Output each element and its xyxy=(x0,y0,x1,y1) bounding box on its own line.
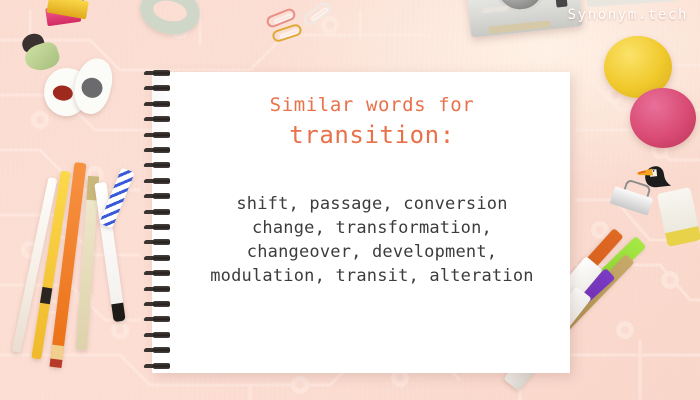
spiral-coil xyxy=(144,363,174,369)
spiral-coil xyxy=(144,178,174,184)
spiral-coil xyxy=(144,70,174,76)
synonym-line: change, transformation, xyxy=(182,216,562,240)
synonym-line: changeover, development, xyxy=(182,240,562,264)
synonym-list: shift, passage, conversion change, trans… xyxy=(182,192,562,288)
macaron-pink-icon xyxy=(630,88,696,148)
spiral-coil xyxy=(144,85,174,91)
synonym-line: shift, passage, conversion xyxy=(182,192,562,216)
spiral-coil xyxy=(144,101,174,107)
spiral-coil xyxy=(144,316,174,322)
spiral-coil xyxy=(144,209,174,215)
spiral-coil xyxy=(144,132,174,138)
page-query-word: transition: xyxy=(182,119,562,152)
page-title-prefix: Similar words for xyxy=(182,92,562,119)
spiral-coil xyxy=(144,270,174,276)
page-content: Similar words for transition: shift, pas… xyxy=(182,92,562,288)
spiral-coil xyxy=(144,347,174,353)
spiral-coil xyxy=(144,239,174,245)
spiral-coil xyxy=(144,224,174,230)
spiral-coil xyxy=(144,286,174,292)
spiral-coil xyxy=(144,162,174,168)
spiral-coil xyxy=(144,332,174,338)
brand-logo: Synonym.tech xyxy=(568,7,688,23)
spiral-coil xyxy=(144,147,174,153)
spiral-coil xyxy=(144,301,174,307)
spiral-binding xyxy=(144,66,180,378)
notebook-page: Similar words for transition: shift, pas… xyxy=(152,72,570,373)
synonym-line: modulation, transit, alteration xyxy=(182,264,562,288)
spiral-coil xyxy=(144,193,174,199)
screenshot-canvas: Similar words for transition: shift, pas… xyxy=(0,0,700,400)
spiral-coil xyxy=(144,255,174,261)
spiral-coil xyxy=(144,116,174,122)
